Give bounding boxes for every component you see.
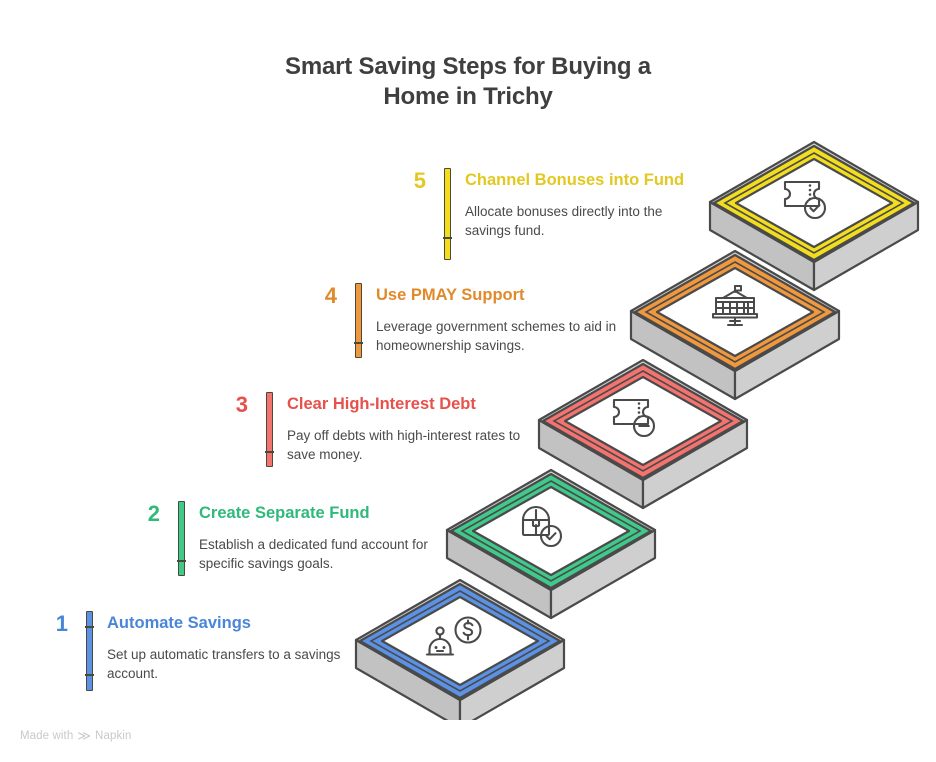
step-description-4: Leverage government schemes to aid in ho… (376, 317, 621, 355)
step-description-2: Establish a dedicated fund account for s… (199, 535, 456, 573)
step-accent-bar-4 (355, 283, 362, 358)
watermark: Made with ≫ Napkin (20, 729, 131, 742)
step-accent-bar-2 (178, 501, 185, 576)
page-title: Smart Saving Steps for Buying a Home in … (0, 52, 936, 112)
step-description-5: Allocate bonuses directly into the savin… (465, 202, 710, 240)
step-label-1: 1 Automate Savings Set up automatic tran… (34, 611, 352, 691)
step-text-1: Automate Savings Set up automatic transf… (107, 611, 352, 683)
step-label-4: 4 Use PMAY Support Leverage government s… (303, 283, 621, 358)
step-number-2: 2 (126, 501, 160, 527)
napkin-logo-icon: ≫ (77, 729, 91, 742)
step-heading-3: Clear High-Interest Debt (287, 393, 532, 415)
step-number-1: 1 (34, 611, 68, 637)
step-number-5: 5 (392, 168, 426, 194)
step-label-5: 5 Channel Bonuses into Fund Allocate bon… (392, 168, 710, 260)
step-heading-2: Create Separate Fund (199, 502, 456, 524)
watermark-made-with-label: Made with (20, 730, 73, 742)
page-title-line-1: Smart Saving Steps for Buying a (0, 52, 936, 82)
watermark-brand-label: Napkin (95, 730, 131, 742)
step-description-3: Pay off debts with high-interest rates t… (287, 426, 532, 464)
step-text-4: Use PMAY Support Leverage government sch… (376, 283, 621, 355)
page-title-line-2: Home in Trichy (0, 82, 936, 112)
step-accent-bar-5 (444, 168, 451, 260)
step-text-2: Create Separate Fund Establish a dedicat… (199, 501, 456, 573)
step-text-3: Clear High-Interest Debt Pay off debts w… (287, 392, 532, 464)
step-number-4: 4 (303, 283, 337, 309)
step-number-3: 3 (214, 392, 248, 418)
step-label-3: 3 Clear High-Interest Debt Pay off debts… (214, 392, 532, 467)
step-heading-1: Automate Savings (107, 612, 352, 634)
step-text-5: Channel Bonuses into Fund Allocate bonus… (465, 168, 710, 240)
step-label-2: 2 Create Separate Fund Establish a dedic… (126, 501, 456, 576)
step-description-1: Set up automatic transfers to a savings … (107, 645, 352, 683)
step-heading-5: Channel Bonuses into Fund (465, 169, 710, 191)
step-heading-4: Use PMAY Support (376, 284, 621, 306)
step-accent-bar-3 (266, 392, 273, 467)
step-accent-bar-1 (86, 611, 93, 691)
